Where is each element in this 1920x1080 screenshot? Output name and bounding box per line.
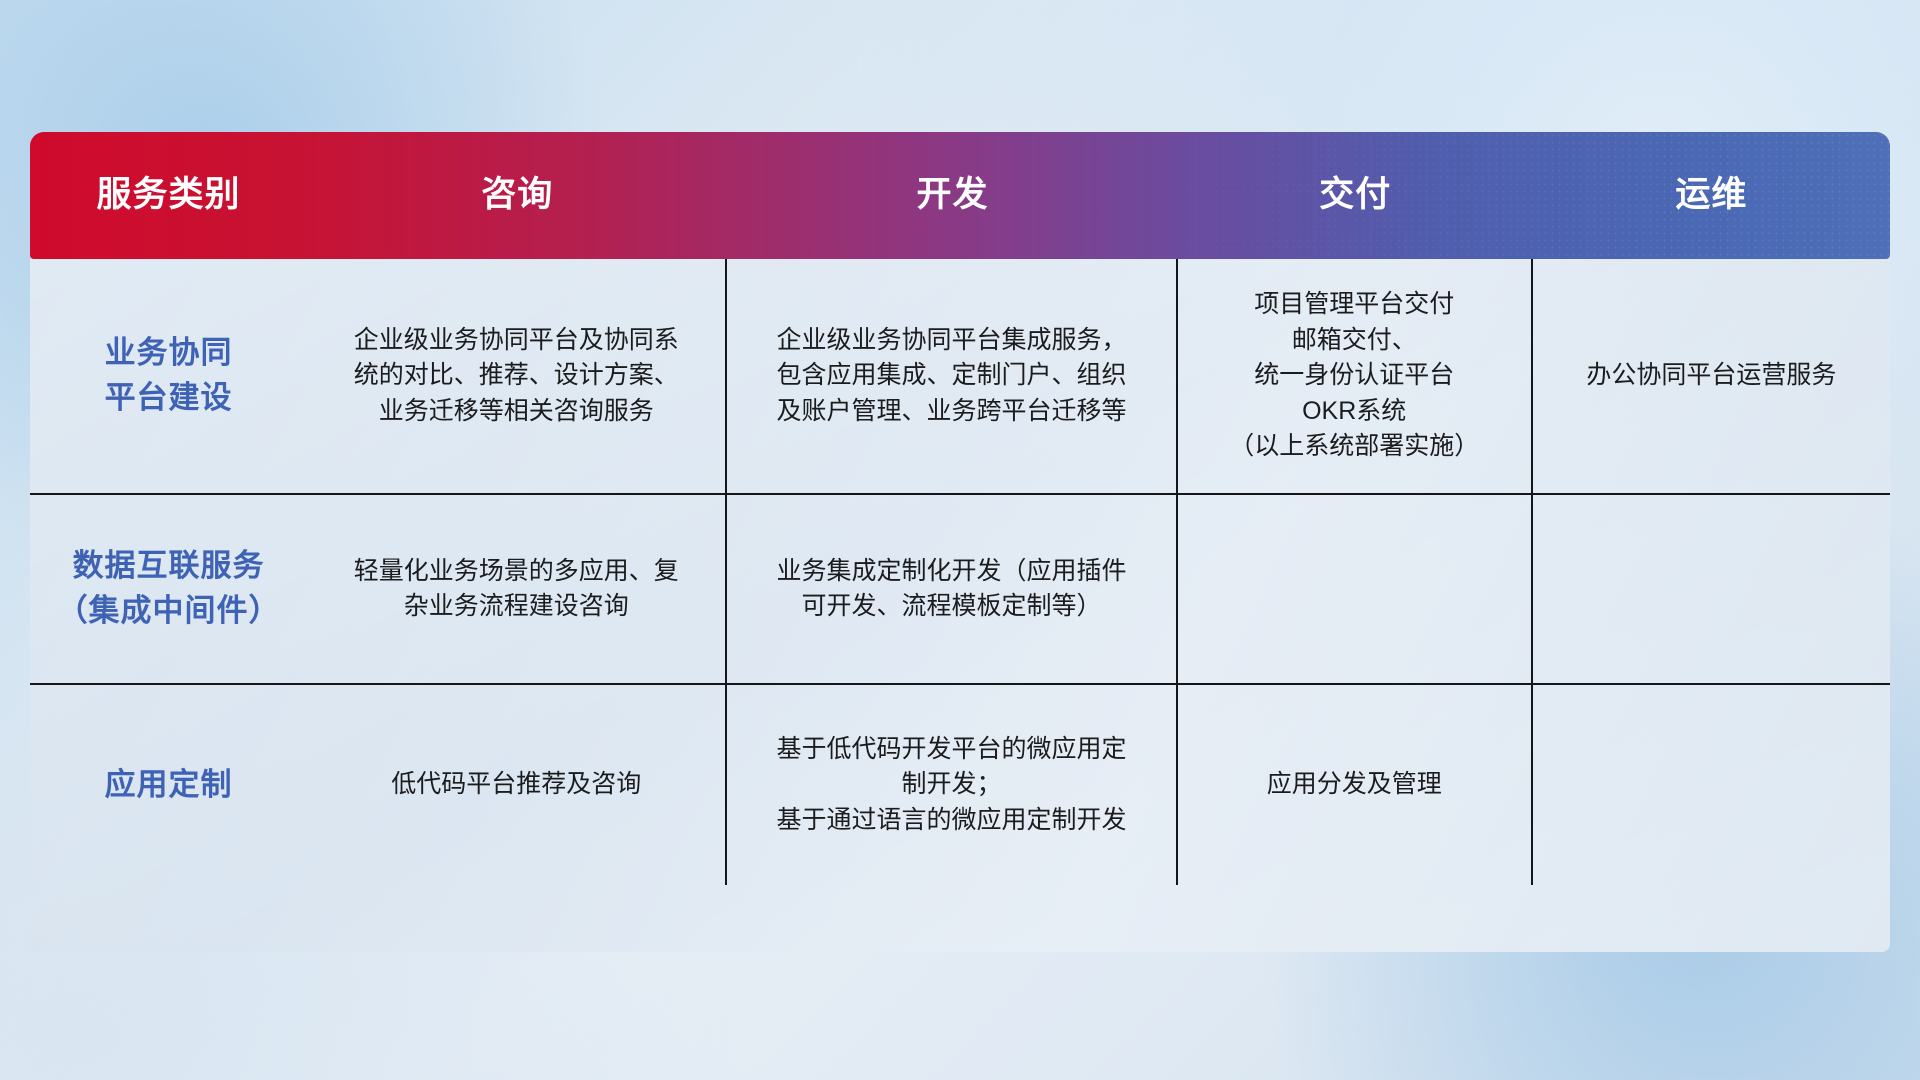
cell-consulting: 低代码平台推荐及咨询 — [307, 685, 727, 885]
column-header-consulting: 咨询 — [307, 176, 727, 215]
cell-consulting: 轻量化业务场景的多应用、复 杂业务流程建设咨询 — [307, 495, 727, 683]
cell-development: 企业级业务协同平台集成服务， 包含应用集成、定制门户、组织 及账户管理、业务跨平… — [727, 259, 1177, 493]
table-row: 数据互联服务 （集成中间件） 轻量化业务场景的多应用、复 杂业务流程建设咨询 业… — [30, 495, 1890, 685]
column-header-service-category: 服务类别 — [30, 176, 307, 215]
cell-delivery: 项目管理平台交付 邮箱交付、 统一身份认证平台 OKR系统 （以上系统部署实施） — [1178, 259, 1533, 493]
table-row: 应用定制 低代码平台推荐及咨询 基于低代码开发平台的微应用定 制开发； 基于通过… — [30, 685, 1890, 885]
service-matrix-table-wrapper: 服务类别 咨询 开发 交付 运维 业务协同 平台建设 企业级业务协同平台及协同系… — [30, 132, 1890, 952]
cell-operations — [1533, 495, 1890, 683]
table-body: 业务协同 平台建设 企业级业务协同平台及协同系 统的对比、推荐、设计方案、 业务… — [30, 259, 1890, 952]
cell-category: 应用定制 — [30, 685, 307, 885]
cell-category: 数据互联服务 （集成中间件） — [30, 495, 307, 683]
cell-consulting: 企业级业务协同平台及协同系 统的对比、推荐、设计方案、 业务迁移等相关咨询服务 — [307, 259, 727, 493]
cell-operations: 办公协同平台运营服务 — [1533, 259, 1890, 493]
cell-delivery — [1178, 495, 1533, 683]
column-header-development: 开发 — [727, 176, 1177, 215]
cell-development: 业务集成定制化开发（应用插件 可开发、流程模板定制等） — [727, 495, 1177, 683]
cell-category: 业务协同 平台建设 — [30, 259, 307, 493]
cell-operations — [1533, 685, 1890, 885]
column-header-operations: 运维 — [1533, 176, 1890, 215]
column-header-delivery: 交付 — [1178, 176, 1533, 215]
service-matrix-table: 服务类别 咨询 开发 交付 运维 业务协同 平台建设 企业级业务协同平台及协同系… — [30, 132, 1890, 952]
table-header-row: 服务类别 咨询 开发 交付 运维 — [30, 132, 1890, 259]
cell-delivery: 应用分发及管理 — [1178, 685, 1533, 885]
cell-development: 基于低代码开发平台的微应用定 制开发； 基于通过语言的微应用定制开发 — [727, 685, 1177, 885]
table-row: 业务协同 平台建设 企业级业务协同平台及协同系 统的对比、推荐、设计方案、 业务… — [30, 259, 1890, 495]
